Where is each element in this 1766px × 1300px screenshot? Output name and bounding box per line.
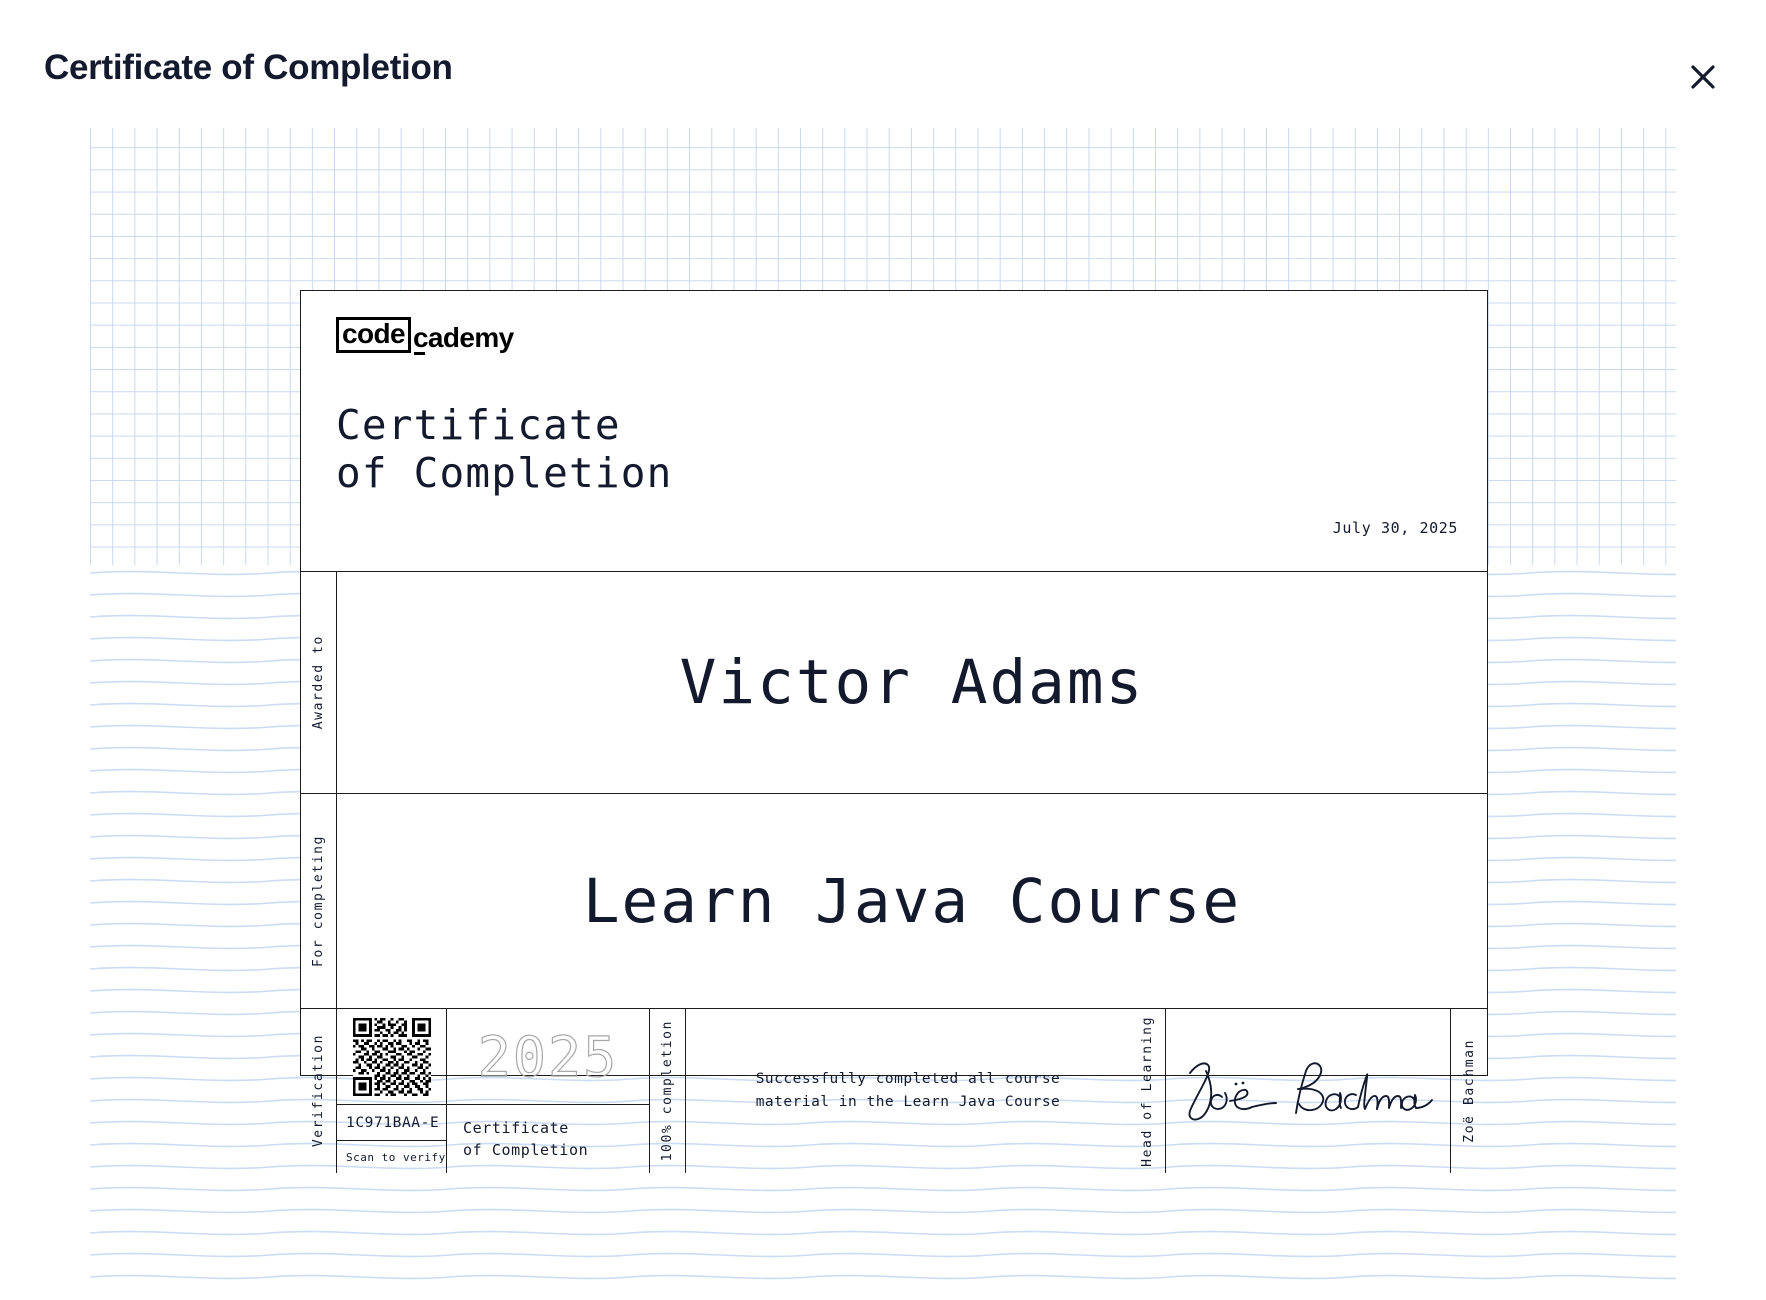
verification-label-cell: Verification [301,1009,337,1173]
certificate-modal: Certificate of Completion [0,0,1766,1300]
year-outline-text: 2025 [478,1025,618,1089]
close-button[interactable] [1680,54,1726,100]
scan-to-verify-text: Scan to verify [346,1151,446,1164]
awarded-to-row: Awarded to Victor Adams [301,572,1487,794]
signer-name-cell: Zoë Bachman [1451,1009,1487,1173]
completion-description: Successfully completed all course materi… [756,1068,1061,1115]
course-name: Learn Java Course [583,866,1241,937]
signature-cell [1166,1009,1451,1173]
certificate-heading: Certificate of Completion [336,401,673,498]
signer-name: Zoë Bachman [1462,1039,1477,1143]
verification-code: 1C971BAA-E [346,1115,439,1131]
verification-code-cell: 1C971BAA-E [337,1105,446,1141]
signature-icon [1178,1051,1438,1131]
for-completing-label-cell: For completing [301,794,337,1008]
year-subtitle-cell: Certificate of Completion [447,1105,649,1173]
completion-description-cell: Successfully completed all course materi… [686,1009,1130,1173]
certificate-footer-row: Verification [301,1009,1487,1173]
course-cell: Learn Java Course [337,794,1487,1008]
scan-hint-cell: Scan to verify [337,1141,446,1173]
verification-label: Verification [311,1034,326,1147]
head-of-learning-label-cell: Head of Learning [1130,1009,1166,1173]
recipient-name: Victor Adams [680,647,1145,718]
year-block: 2025 Certificate of Completion [447,1009,650,1173]
modal-header: Certificate of Completion [0,0,1766,128]
verification-block: 1C971BAA-E Scan to verify [337,1009,447,1173]
year-cell: 2025 [447,1009,649,1105]
logo-tail-text: cademy [411,324,514,353]
issue-date: July 30, 2025 [1333,519,1458,537]
completion-label-cell: 100% completion [650,1009,686,1173]
for-completing-row: For completing Learn Java Course [301,794,1487,1009]
page-title: Certificate of Completion [44,48,453,88]
awarded-to-label-cell: Awarded to [301,572,337,793]
head-of-learning-label: Head of Learning [1140,1016,1155,1167]
codecademy-logo: code cademy [336,317,514,353]
awarded-to-label: Awarded to [311,635,326,729]
logo-underscore-mark [414,352,425,355]
qr-cell[interactable] [337,1009,446,1105]
year-subtitle-text: Certificate of Completion [463,1117,588,1162]
logo-boxed-text: code [336,317,411,353]
completion-label: 100% completion [660,1020,675,1161]
qr-code-icon[interactable] [353,1018,431,1096]
for-completing-label: For completing [311,835,326,967]
certificate-header-band: code cademy Certificate of Completion Ju… [301,291,1487,572]
close-icon [1690,64,1716,90]
recipient-cell: Victor Adams [337,572,1487,793]
certificate-card: code cademy Certificate of Completion Ju… [300,290,1488,1076]
